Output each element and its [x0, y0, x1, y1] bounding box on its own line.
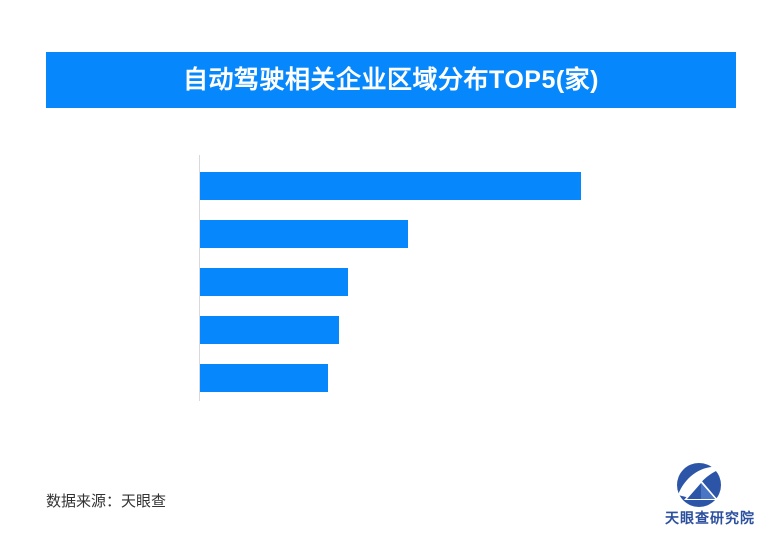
source-note: 数据来源：天眼查 — [46, 490, 166, 511]
bar-rect — [200, 364, 328, 392]
bar-rect — [200, 172, 581, 200]
brand-logo-text: 天眼查研究院 — [652, 508, 768, 528]
bar-rect — [200, 268, 348, 296]
tianyancha-eye-mountain-logo-icon — [672, 462, 732, 508]
bar-rect — [200, 316, 339, 344]
infographic-canvas: 自动驾驶相关企业区域分布TOP5(家) 广东省河北省北京市江苏省山东省 数据来源… — [0, 0, 783, 544]
brand-logo: 天眼查研究院 — [652, 462, 768, 532]
bar-rect — [200, 220, 408, 248]
